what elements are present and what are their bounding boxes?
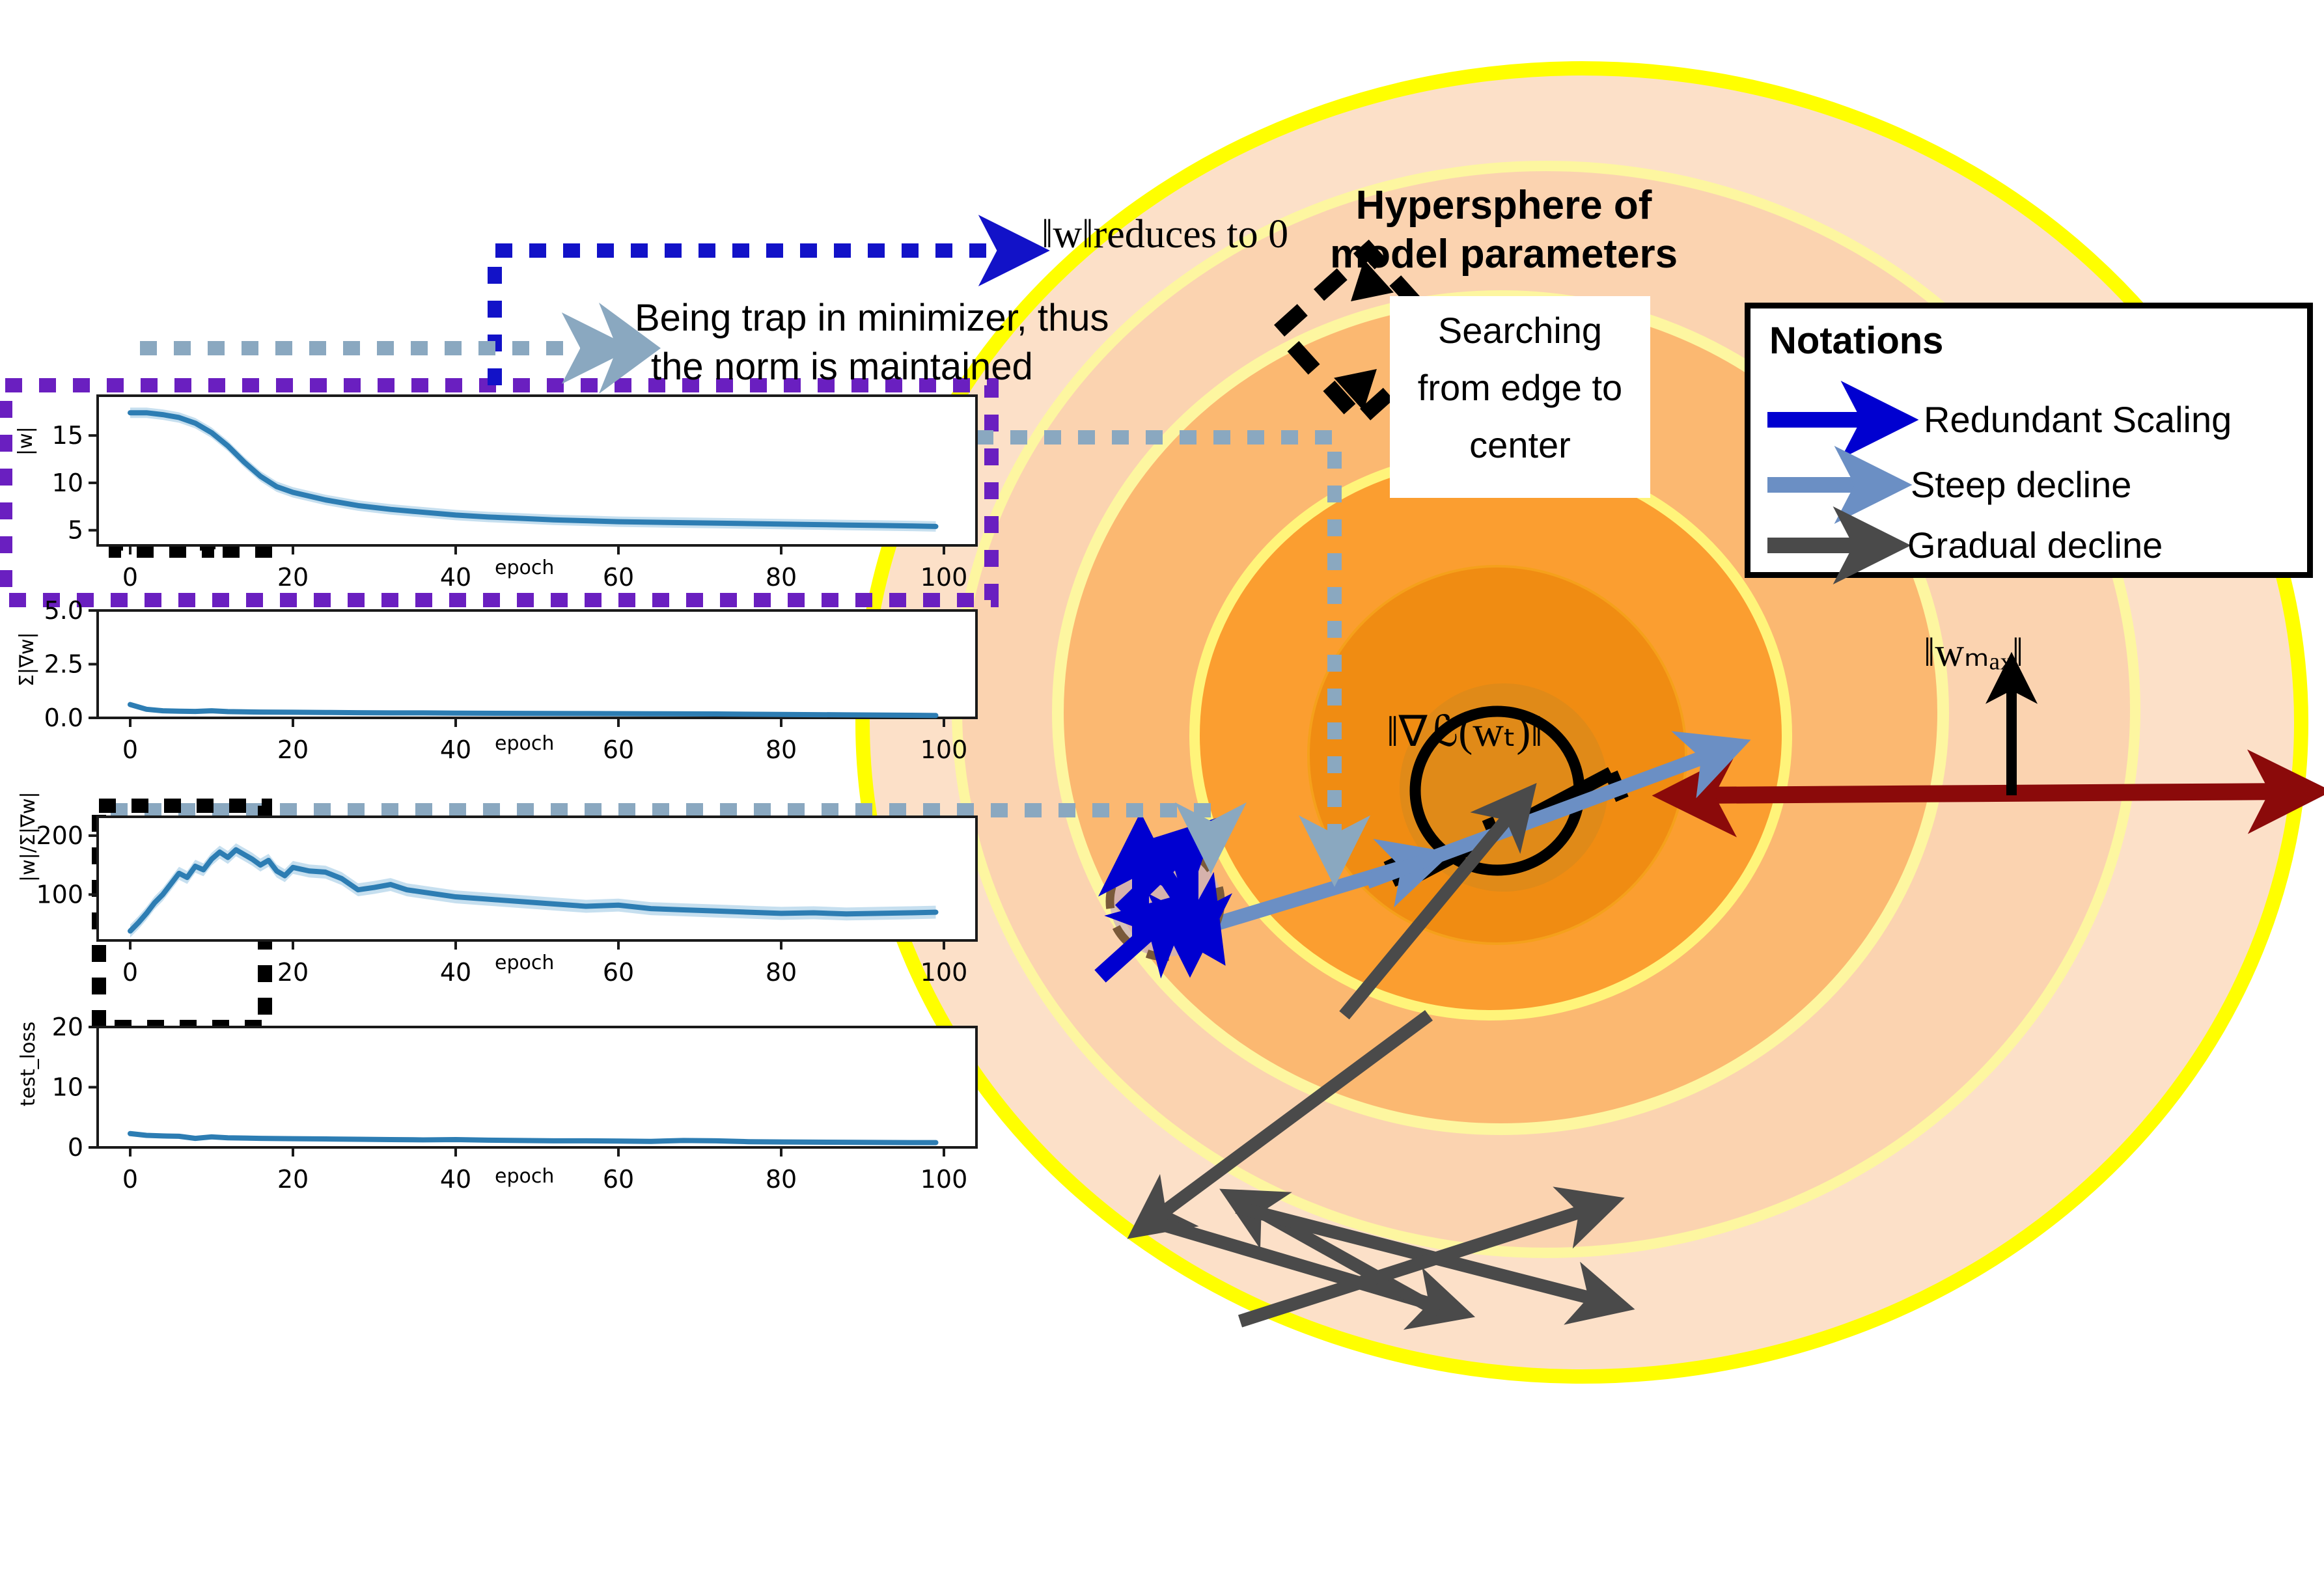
legend-label-gradual: Gradual decline [1907,524,2163,566]
wmax-label: ‖wₘₐₓ‖ [1924,628,2023,676]
gradient-norm-label: ‖∇ℒ(wₜ)‖ [1387,706,1543,757]
figure-canvas: 020406080100510150204060801000.02.55.002… [0,0,2324,1575]
legend-label-redundant: Redundant Scaling [1924,398,2232,441]
legend-label-steep: Steep decline [1911,463,2131,506]
legend-arrows-layer [0,0,2324,1575]
